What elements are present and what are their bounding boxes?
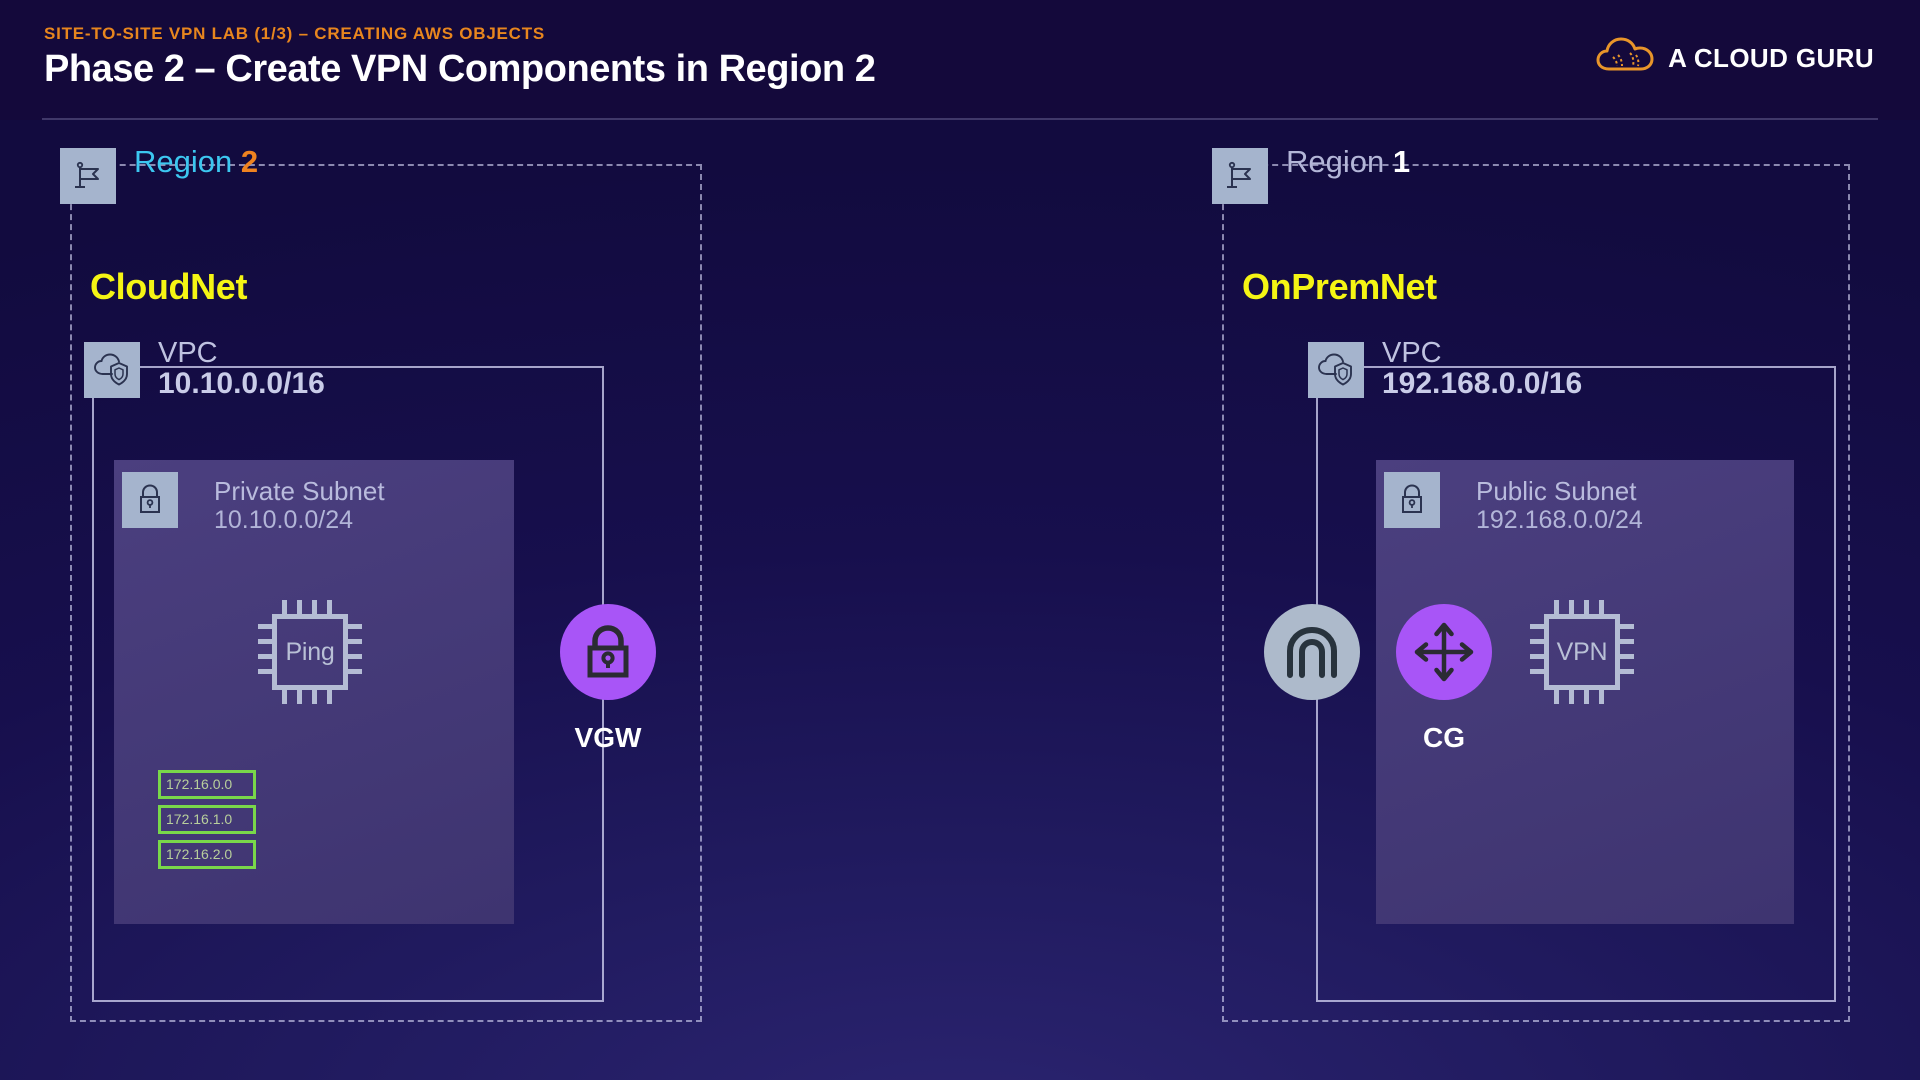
- network-name-cloudnet: CloudNet: [90, 266, 247, 308]
- header-divider: [42, 118, 1878, 120]
- lab-eyebrow-label: SITE-TO-SITE VPN LAB (1/3) – CREATING AW…: [44, 24, 545, 44]
- page-title: Phase 2 – Create VPN Components in Regio…: [44, 48, 875, 91]
- region-label-word: Region: [134, 144, 232, 179]
- subnet-kind-label: Public Subnet: [1476, 476, 1643, 506]
- flag-icon: [1212, 148, 1268, 204]
- region-label-2: Region 2: [134, 144, 258, 180]
- vpc-caption-2: VPC 10.10.0.0/16: [158, 338, 325, 399]
- cloud-outline-icon: [1596, 36, 1654, 81]
- brand-name: A CLOUD GURU: [1668, 43, 1874, 74]
- flag-icon: [60, 148, 116, 204]
- cloud-shield-icon: [84, 342, 140, 398]
- chip-label: Ping: [285, 638, 334, 667]
- region-label-1: Region 1: [1286, 144, 1410, 180]
- tunnel-arch-icon: [1264, 604, 1360, 700]
- vpc-kind-label: VPC: [1382, 338, 1582, 368]
- chip-label: VPN: [1557, 638, 1608, 667]
- lock-icon: [122, 472, 178, 528]
- brand-logo: A CLOUD GURU: [1596, 36, 1874, 81]
- route-tag: 172.16.1.0: [158, 805, 256, 834]
- subnet-cidr-label: 10.10.0.0/24: [214, 506, 385, 535]
- vpc-cidr-label: 192.168.0.0/16: [1382, 368, 1582, 399]
- subnet-caption-2: Private Subnet 10.10.0.0/24: [214, 476, 385, 536]
- chip-body: VPN: [1544, 614, 1620, 690]
- region-label-number: 2: [241, 144, 258, 179]
- lock-icon: [1384, 472, 1440, 528]
- vgw-lock-icon: [560, 604, 656, 700]
- chip-body: Ping: [272, 614, 348, 690]
- cpu-chip-icon-ping: Ping: [258, 600, 362, 704]
- page-header: SITE-TO-SITE VPN LAB (1/3) – CREATING AW…: [0, 0, 1920, 120]
- cg-label: CG: [1376, 722, 1512, 754]
- vpc-kind-label: VPC: [158, 338, 325, 368]
- route-tag: 172.16.2.0: [158, 840, 256, 869]
- subnet-kind-label: Private Subnet: [214, 476, 385, 506]
- cloud-shield-icon: [1308, 342, 1364, 398]
- route-tag: 172.16.0.0: [158, 770, 256, 799]
- vpc-caption-1: VPC 192.168.0.0/16: [1382, 338, 1582, 399]
- route-tag-list: 172.16.0.0 172.16.1.0 172.16.2.0: [158, 770, 256, 869]
- cpu-chip-icon-vpn: VPN: [1530, 600, 1634, 704]
- vgw-label: VGW: [540, 722, 676, 754]
- region-label-number: 1: [1393, 144, 1410, 179]
- region-label-word: Region: [1286, 144, 1384, 179]
- vpc-cidr-label: 10.10.0.0/16: [158, 368, 325, 399]
- subnet-cidr-label: 192.168.0.0/24: [1476, 506, 1643, 535]
- four-way-arrow-icon: [1396, 604, 1492, 700]
- subnet-caption-1: Public Subnet 192.168.0.0/24: [1476, 476, 1643, 536]
- network-name-onpremnet: OnPremNet: [1242, 266, 1437, 308]
